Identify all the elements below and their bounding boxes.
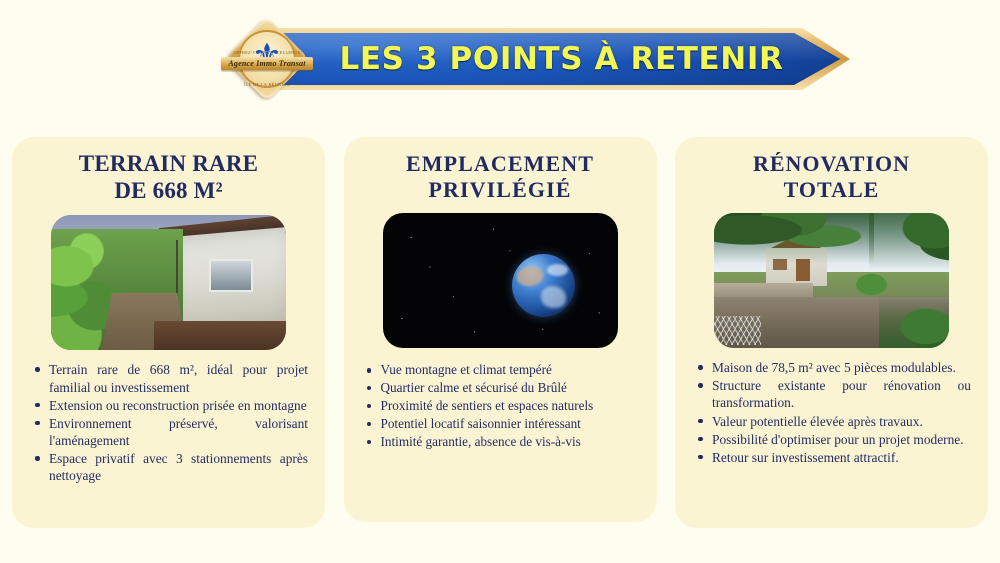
list-item: Proximité de sentiers et espaces naturel… [364,398,640,415]
photo-bush [879,294,950,348]
photo-tree-canopy [714,213,874,264]
card-photo-terrain [51,215,286,350]
card-bullets-emplacement: Vue montagne et climat tempéré Quartier … [364,362,640,450]
header-banner: LES 3 POINTS À RETENIR OFFREZ-VOUS L'EXC… [0,0,1000,118]
card-photo-earth [383,213,618,348]
logo-bottom-text: ÎLE DE LA RÉUNION [244,82,290,87]
photo-ground [154,321,286,351]
photo-earth-clouds [547,264,568,277]
list-item: Possibilité d'optimiser pour un projet m… [695,431,971,448]
card-title-line2: PRIVILÉGIÉ [428,177,571,202]
logo-ribbon-text: Agence Immo Transat [228,59,305,68]
card-title-emplacement: EMPLACEMENT PRIVILÉGIÉ [357,151,644,202]
photo-earth-globe [512,254,575,317]
card-title-line1: RÉNOVATION [753,151,910,176]
card-photo-renovation [714,213,949,348]
photo-tree-right [869,213,949,270]
photo-window [209,259,253,293]
list-item: Valeur potentielle élevée après travaux. [695,413,971,430]
list-item: Retour sur investissement attractif. [695,449,971,466]
card-title-terrain: TERRAIN RARE DE 668 M² [25,151,312,204]
card-bullets-renovation: Maison de 78,5 m² avec 5 pièces modulabl… [695,359,971,466]
points-card-row: TERRAIN RARE DE 668 M² Terrain rare de 6… [0,137,1000,537]
list-item: Terrain rare de 668 m², idéal pour proje… [32,361,308,395]
list-item: Structure existante pour rénovation ou t… [695,377,971,411]
card-bullets-terrain: Terrain rare de 668 m², idéal pour proje… [32,361,308,484]
card-title-line2: TOTALE [784,177,880,202]
logo-ribbon: Agence Immo Transat [221,57,313,70]
list-item: Vue montagne et climat tempéré [364,362,640,379]
list-item: Environnement préservé, valorisant l'amé… [32,415,308,449]
photo-fence [714,316,761,346]
list-item: Intimité garantie, absence de vis-à-vis [364,434,640,451]
point-card-terrain: TERRAIN RARE DE 668 M² Terrain rare de 6… [12,137,325,528]
point-card-renovation: RÉNOVATION TOTALE Maison de 78,5 m² avec… [675,137,988,528]
list-item: Maison de 78,5 m² avec 5 pièces modulabl… [695,359,971,376]
card-title-line2: DE 668 M² [114,178,222,203]
card-title-renovation: RÉNOVATION TOTALE [688,151,975,202]
agency-logo-badge[interactable]: OFFREZ-VOUS L'EXCELLENCE ⚜ Agence Immo T… [219,22,315,96]
list-item: Extension ou reconstruction prisée en mo… [32,397,308,414]
list-item: Quartier calme et sécurisé du Brûlé [364,380,640,397]
list-item: Espace privatif avec 3 stationnements ap… [32,450,308,484]
point-card-emplacement: EMPLACEMENT PRIVILÉGIÉ Vue montagne et c… [344,137,657,522]
photo-starfield [383,213,618,348]
page-title: LES 3 POINTS À RETENIR [255,28,850,90]
card-title-line1: TERRAIN RARE [79,151,258,176]
card-title-line1: EMPLACEMENT [406,151,594,176]
title-banner: LES 3 POINTS À RETENIR [255,28,850,90]
list-item: Potentiel locatif saisonnier intéressant [364,416,640,433]
